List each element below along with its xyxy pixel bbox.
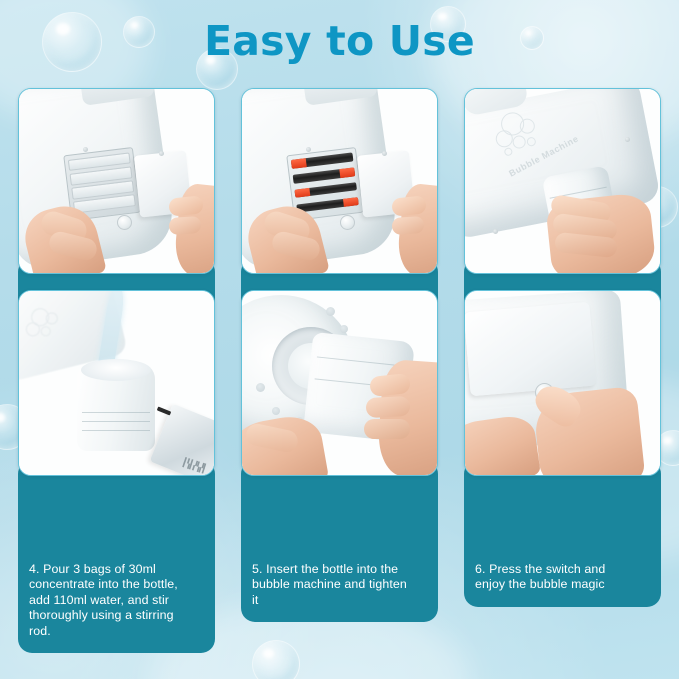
step-photo-2 — [241, 88, 438, 274]
step-card-3: 3. Twist the bubble solution bottle to t… — [464, 88, 661, 274]
scene-open-battery-cover — [19, 89, 214, 273]
step-card-6: 6. Press the switch and enjoy the bubble… — [464, 290, 661, 476]
step-card-2: 2. Insert 4 AA batteries ( not included) — [241, 88, 438, 274]
bubble-decor-9 — [252, 640, 300, 679]
step-photo-3: Bubble Machine — [464, 88, 661, 274]
step-caption-4: 4. Pour 3 bags of 30ml concentrate into … — [18, 460, 215, 653]
power-switch — [117, 215, 132, 230]
step-card-5: 5. Insert the bottle into the bubble mac… — [241, 290, 438, 476]
step-caption-6: 6. Press the switch and enjoy the bubble… — [464, 460, 661, 607]
step-card-4: 4. Pour 3 bags of 30ml concentrate into … — [18, 290, 215, 476]
step-photo-4: ▌▌▌▐▌▐▌▌▐▌▌▐▌▌ — [18, 290, 215, 476]
instruction-infographic: Easy to Use 1. Open the battery cover — [0, 0, 679, 679]
battery-2 — [293, 168, 355, 184]
battery-4 — [297, 197, 359, 213]
steps-grid: 1. Open the battery cover — [18, 88, 661, 476]
step-photo-1 — [18, 88, 215, 274]
concentrate-sachet: ▌▌▌▐▌▐▌▌▐▌▌▐▌▌ — [150, 404, 214, 475]
step-photo-6 — [464, 290, 661, 476]
scene-pour-water-into-bottle: ▌▌▌▐▌▐▌▌▐▌▌▐▌▌ — [19, 291, 214, 475]
step-card-1: 1. Open the battery cover — [18, 88, 215, 274]
battery-1 — [291, 153, 353, 169]
step-caption-5: 5. Insert the bottle into the bubble mac… — [241, 460, 438, 622]
scene-insert-bottle-into-machine — [242, 291, 437, 475]
scene-press-switch — [465, 291, 660, 475]
power-switch — [340, 215, 355, 230]
scene-insert-batteries — [242, 89, 437, 273]
step-photo-5 — [241, 290, 438, 476]
battery-3 — [295, 182, 357, 198]
scene-twist-bottle-off: Bubble Machine — [465, 89, 660, 273]
battery-cover-plate — [465, 302, 596, 397]
page-title: Easy to Use — [0, 18, 679, 64]
